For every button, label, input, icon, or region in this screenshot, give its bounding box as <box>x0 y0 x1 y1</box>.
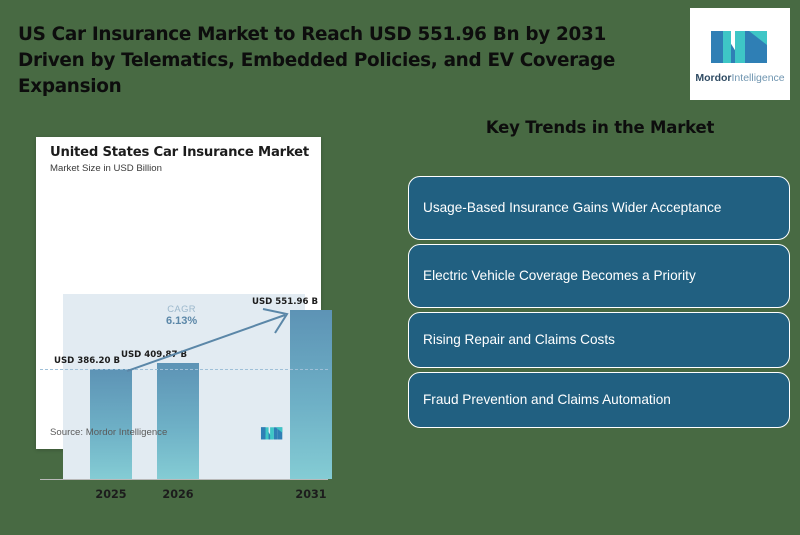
chart-source-row: Source: Mordor Intelligence <box>50 425 308 443</box>
trend-card-label: Rising Repair and Claims Costs <box>423 330 615 350</box>
trend-card-label: Usage-Based Insurance Gains Wider Accept… <box>423 198 721 218</box>
market-size-chart-card: United States Car Insurance Market Marke… <box>36 137 321 449</box>
brand-word-primary: Mordor <box>695 72 731 84</box>
mordor-m-mark-icon <box>709 25 771 67</box>
x-tick-2026: 2026 <box>148 488 208 501</box>
trend-card-0[interactable]: Usage-Based Insurance Gains Wider Accept… <box>408 176 790 240</box>
page-title: US Car Insurance Market to Reach USD 551… <box>18 22 668 100</box>
page-header: US Car Insurance Market to Reach USD 551… <box>0 0 800 110</box>
cagr-value: 6.13% <box>166 315 197 328</box>
chart-title: United States Car Insurance Market <box>50 145 309 160</box>
chart-source-label: Source: Mordor Intelligence <box>50 427 167 438</box>
trend-card-2[interactable]: Rising Repair and Claims Costs <box>408 312 790 368</box>
trend-card-1[interactable]: Electric Vehicle Coverage Becomes a Prio… <box>408 244 790 308</box>
brand-logo: MordorIntelligence <box>690 8 790 100</box>
key-trends-heading: Key Trends in the Market <box>409 118 791 137</box>
chart-subtitle: Market Size in USD Billion <box>50 163 162 174</box>
cagr-caption: CAGR <box>166 302 197 315</box>
brand-wordmark: MordorIntelligence <box>695 72 784 84</box>
cagr-arrow-icon <box>123 303 303 375</box>
bar-value-label-2025: USD 386.20 B <box>54 356 120 366</box>
x-axis-line <box>40 479 328 480</box>
cagr-annotation: CAGR 6.13% <box>166 302 197 328</box>
chart-plot-area: USD 386.20 B USD 409.87 B USD 551.96 B C… <box>63 197 305 535</box>
brand-word-secondary: Intelligence <box>732 72 785 84</box>
x-tick-2031: 2031 <box>281 488 341 501</box>
bar-2025 <box>90 369 132 479</box>
trend-card-3[interactable]: Fraud Prevention and Claims Automation <box>408 372 790 428</box>
bar-2026 <box>157 363 199 479</box>
x-tick-2025: 2025 <box>81 488 141 501</box>
trend-card-label: Fraud Prevention and Claims Automation <box>423 390 671 410</box>
trend-card-label: Electric Vehicle Coverage Becomes a Prio… <box>423 266 696 286</box>
mordor-m-mark-icon <box>260 425 284 441</box>
